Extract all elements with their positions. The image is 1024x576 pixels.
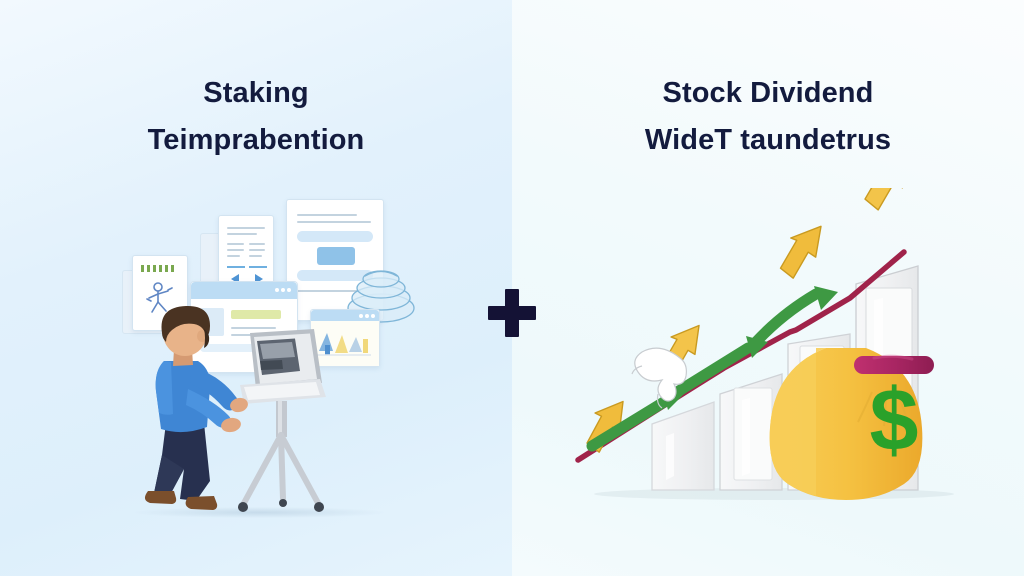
person-figure [126, 305, 256, 527]
staking-title-line-1: Staking [0, 70, 512, 117]
staking-title-line-2: Teimprabention [0, 117, 512, 164]
dividend-title-line-1: Stock Dividend [512, 70, 1024, 117]
person-at-kiosk-illustration [118, 185, 408, 530]
dividend-title-line-2: WideT taundetrus [512, 117, 1024, 164]
sketch-card-heading [141, 265, 177, 272]
plus-sign-icon [488, 289, 536, 337]
staking-panel: Staking Teimprabention [0, 0, 512, 576]
small-browser-title-bar [311, 310, 379, 321]
stock-dividend-panel-title: Stock Dividend WideT taundetrus [512, 70, 1024, 164]
staking-panel-title: Staking Teimprabention [0, 70, 512, 164]
browser-title-bar [191, 282, 297, 299]
growth-chart-svg: $ [574, 188, 974, 518]
plus-sign-wrapper [488, 289, 536, 337]
growth-chart-money-bag-illustration: $ [574, 188, 974, 518]
blob-doc-card [286, 199, 384, 321]
money-bag: $ [770, 348, 934, 500]
window-dots-icon [275, 288, 291, 292]
dollar-sign-label: $ [870, 370, 919, 469]
stock-dividend-panel: Stock Dividend WideT taundetrus [512, 0, 1024, 576]
comparison-graphic: Staking Teimprabention [0, 0, 1024, 576]
